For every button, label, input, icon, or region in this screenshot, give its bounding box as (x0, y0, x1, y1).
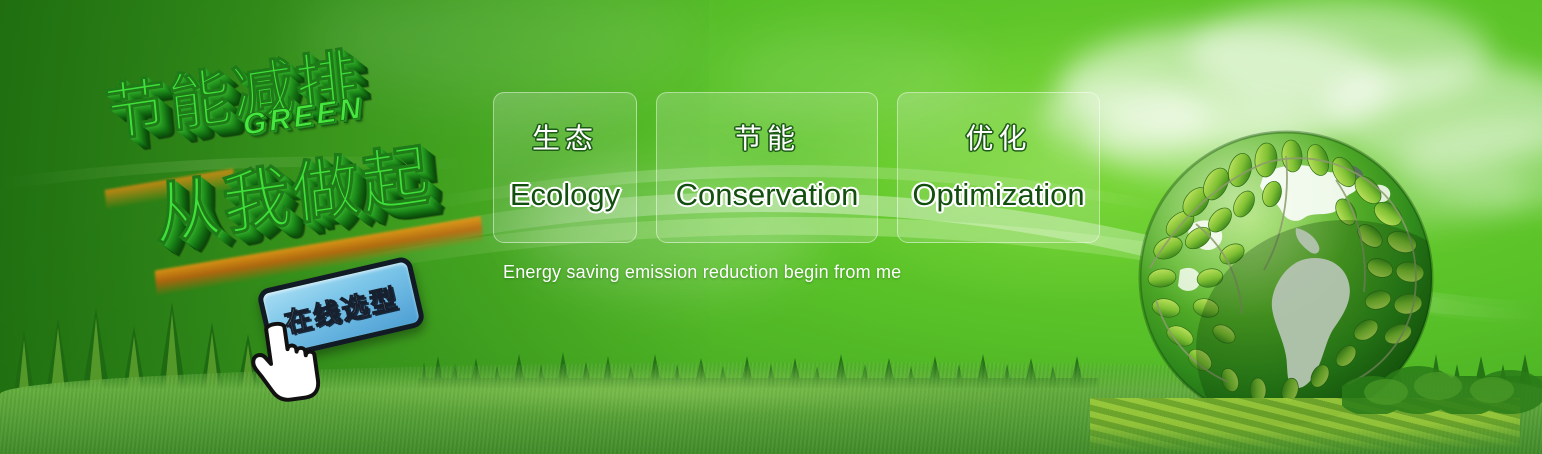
tagline: Energy saving emission reduction begin f… (503, 262, 901, 283)
feature-card-optimization[interactable]: 优化 Optimization (897, 92, 1100, 243)
shrub-cluster (1342, 334, 1542, 414)
feature-card-list: 生态 Ecology 节能 Conservation 优化 Optimizati… (493, 92, 1100, 243)
green-energy-banner: 节能减排 GREEN 从我做起 在线选型 生态 Ecology 节能 Conse… (0, 0, 1542, 454)
feature-card-ecology[interactable]: 生态 Ecology (493, 92, 637, 243)
feature-card-conservation[interactable]: 节能 Conservation (656, 92, 878, 243)
hero-title: 节能减排 GREEN 从我做起 (86, 18, 526, 287)
feature-card-en-label: Ecology (510, 179, 620, 210)
feature-card-en-label: Optimization (912, 179, 1084, 210)
online-selection-button-label: 在线选型 (280, 276, 402, 340)
grass-highlight (123, 368, 1202, 414)
feature-card-en-label: Conservation (676, 179, 859, 210)
feature-card-cn-label: 优化 (965, 125, 1031, 153)
feature-card-cn-label: 生态 (532, 125, 598, 153)
feature-card-cn-label: 节能 (734, 125, 800, 153)
